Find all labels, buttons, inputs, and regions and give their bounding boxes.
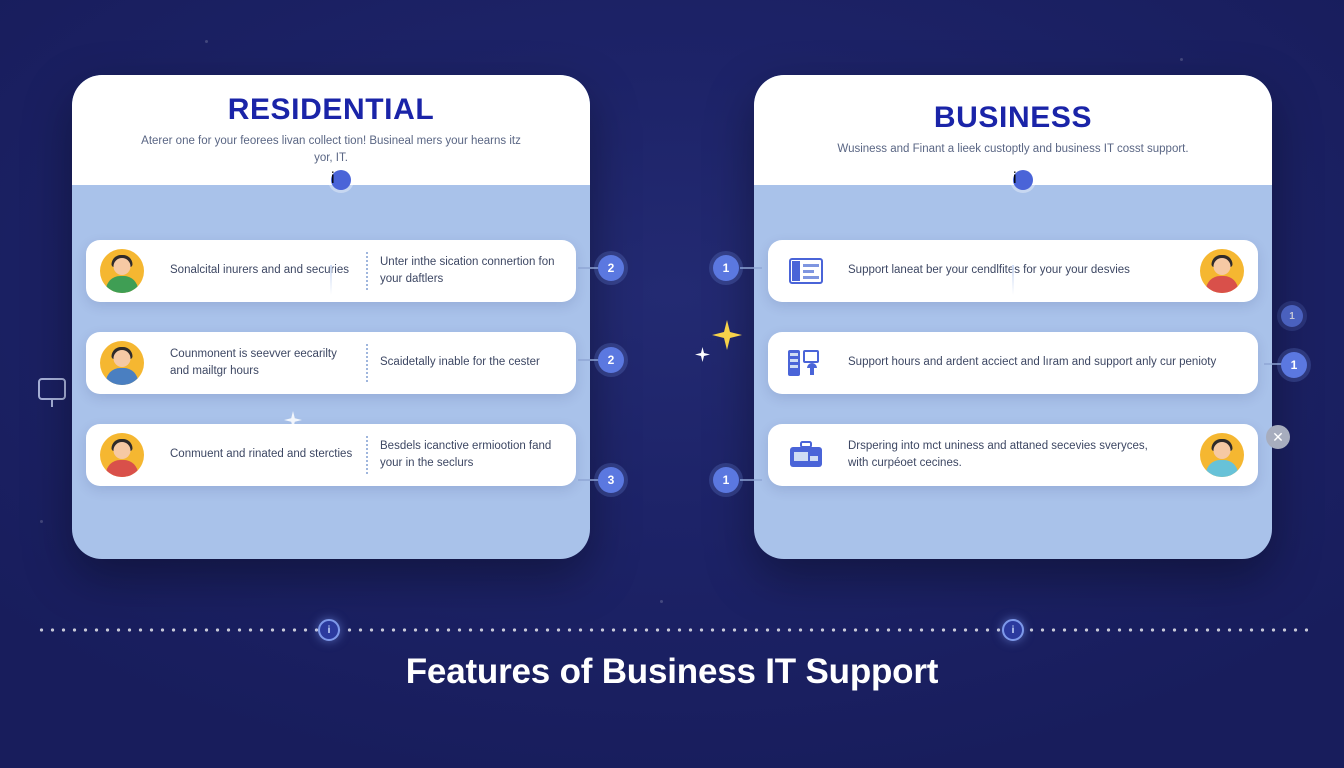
row-text-group: Conmuent and rinated and stercties Besde… bbox=[158, 424, 576, 486]
infographic-canvas: RESIDENTIAL Aterer one for your feorees … bbox=[0, 0, 1344, 768]
row-text: Support laneat ber your cendlfites for y… bbox=[836, 262, 1186, 279]
badge-leader-line bbox=[740, 267, 762, 269]
avatar bbox=[1200, 249, 1244, 293]
header-connector-stem bbox=[330, 265, 332, 295]
table-row[interactable]: Conmuent and rinated and stercties Besde… bbox=[86, 424, 576, 486]
row-text-group: Support hours and ardent acciect and lır… bbox=[836, 332, 1258, 394]
bg-dot bbox=[40, 520, 43, 523]
bottom-dotted-line bbox=[36, 628, 1308, 632]
briefcase-icon bbox=[786, 438, 826, 472]
row-right-text: Besdels icanctive ermiootion fand your i… bbox=[368, 438, 576, 472]
residential-card-header: RESIDENTIAL Aterer one for your feorees … bbox=[72, 75, 590, 185]
bg-dot bbox=[205, 40, 208, 43]
row-left-text: Conmuent and rinated and stercties bbox=[158, 446, 366, 463]
page-title: Features of Business IT Support bbox=[0, 652, 1344, 692]
row-text: Drspering into mct uniness and attaned s… bbox=[836, 438, 1186, 472]
row-left-text: Counmonent is seevver eecarilty and mail… bbox=[158, 346, 366, 380]
residential-row-badge[interactable]: 2 bbox=[598, 255, 624, 281]
list-document-icon bbox=[786, 254, 826, 288]
table-row[interactable]: Counmonent is seevver eecarilty and mail… bbox=[86, 332, 576, 394]
sparkle-icon bbox=[712, 320, 742, 350]
signboard-icon bbox=[38, 378, 66, 400]
row-left-text: Sonalcital inurers and and securies bbox=[158, 262, 366, 279]
row-text: Support hours and ardent acciect and lır… bbox=[836, 354, 1258, 371]
bottom-node-right[interactable]: i bbox=[1002, 619, 1024, 641]
avatar bbox=[100, 341, 144, 385]
avatar bbox=[100, 433, 144, 477]
residential-rows: Sonalcital inurers and and securies Unte… bbox=[72, 185, 590, 486]
row-text-group: Counmonent is seevver eecarilty and mail… bbox=[158, 332, 576, 394]
business-card-header: BUSINESS Wusiness and Finant a lieek cus… bbox=[754, 75, 1272, 185]
close-icon[interactable]: ✕ bbox=[1266, 425, 1290, 449]
business-rows: Support laneat ber your cendlfites for y… bbox=[754, 185, 1272, 486]
residential-row-badge[interactable]: 3 bbox=[598, 467, 624, 493]
table-row[interactable]: Drspering into mct uniness and attaned s… bbox=[768, 424, 1258, 486]
row-text-group: Drspering into mct uniness and attaned s… bbox=[836, 424, 1186, 486]
avatar bbox=[100, 249, 144, 293]
residential-card-subtitle: Aterer one for your feorees livan collec… bbox=[131, 133, 531, 168]
bg-dot bbox=[660, 600, 663, 603]
bg-dot bbox=[1180, 58, 1183, 61]
residential-header-node: i bbox=[331, 170, 351, 190]
server-cloud-icon bbox=[786, 346, 826, 380]
residential-card-title: RESIDENTIAL bbox=[228, 93, 435, 126]
sparkle-icon bbox=[695, 347, 710, 362]
row-right-text: Unter inthe sication connertion fon your… bbox=[368, 254, 576, 288]
business-card-subtitle: Wusiness and Finant a lieek custoptly an… bbox=[837, 141, 1188, 158]
header-connector-stem bbox=[1012, 265, 1014, 295]
right-edge-badge-top[interactable]: 1 bbox=[1281, 305, 1303, 327]
residential-card: RESIDENTIAL Aterer one for your feorees … bbox=[72, 75, 590, 559]
row-text-group: Support laneat ber your cendlfites for y… bbox=[836, 240, 1186, 302]
bottom-node-left[interactable]: i bbox=[318, 619, 340, 641]
row-text-group: Sonalcital inurers and and securies Unte… bbox=[158, 240, 576, 302]
business-row-badge[interactable]: 1 bbox=[713, 255, 739, 281]
table-row[interactable]: Support hours and ardent acciect and lır… bbox=[768, 332, 1258, 394]
business-row-badge[interactable]: 1 bbox=[713, 467, 739, 493]
badge-leader-line bbox=[740, 479, 762, 481]
right-edge-badge-mid[interactable]: 1 bbox=[1281, 352, 1307, 378]
business-card-title: BUSINESS bbox=[934, 101, 1092, 134]
residential-row-badge[interactable]: 2 bbox=[598, 347, 624, 373]
avatar bbox=[1200, 433, 1244, 477]
row-right-text: Scaidetally inable for the cester bbox=[368, 354, 576, 371]
business-card: BUSINESS Wusiness and Finant a lieek cus… bbox=[754, 75, 1272, 559]
business-header-node: i bbox=[1013, 170, 1033, 190]
